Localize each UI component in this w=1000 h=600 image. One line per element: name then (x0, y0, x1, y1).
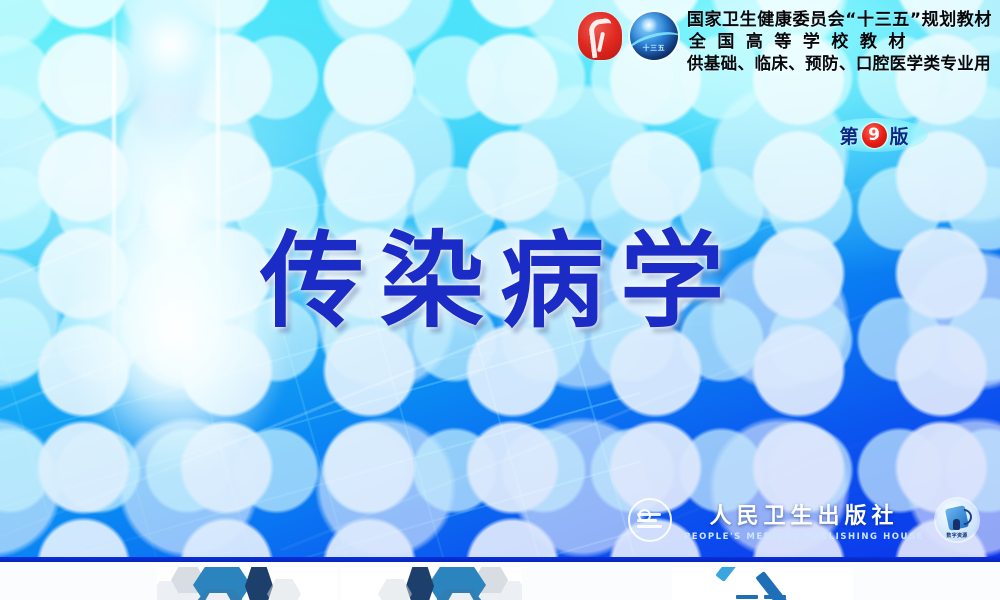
pmph-circle-logo-icon (628, 498, 672, 542)
globe-emblem-label: 十三五 (630, 43, 678, 53)
publisher-name-cn: 人民卫生出版社 (709, 498, 898, 530)
filmstrip[interactable] (0, 562, 1000, 600)
renmin-weisheng-seal-icon (578, 12, 622, 60)
publisher-names: 人民卫生出版社 PEOPLE'S MEDICAL PUBLISHING HOUS… (684, 498, 924, 542)
edition-badge: 第 9 版 (820, 118, 928, 152)
header-line-2: 全国高等学校教材 (687, 32, 992, 52)
digital-content-icon: 数字资源 (936, 499, 978, 541)
thumbnail-hex-left[interactable] (157, 567, 338, 600)
header-line-3: 供基础、临床、预防、口腔医学类专业用 (687, 54, 992, 73)
header-textlines: 国家卫生健康委员会“十三五”规划教材 全国高等学校教材 供基础、临床、预防、口腔… (687, 8, 992, 74)
book-title: 传染病学 (0, 196, 1000, 347)
thumbnail-triangle-logo[interactable] (672, 567, 853, 600)
edition-suffix: 版 (890, 122, 909, 149)
digital-badge-caption: 数字资源 (936, 532, 978, 539)
slide-canvas[interactable]: 十三五 国家卫生健康委员会“十三五”规划教材 全国高等学校教材 供基础、临床、预… (0, 0, 1000, 562)
edition-number: 9 (862, 123, 887, 148)
thumbnail-hex-right[interactable] (341, 567, 522, 600)
edition-prefix: 第 (839, 122, 858, 149)
header-block: 十三五 国家卫生健康委员会“十三五”规划教材 全国高等学校教材 供基础、临床、预… (578, 8, 992, 74)
publisher-name-en: PEOPLE'S MEDICAL PUBLISHING HOUSE (684, 532, 924, 542)
emblem-group: 十三五 (578, 8, 678, 60)
globe-emblem-icon: 十三五 (630, 12, 678, 60)
publisher-block: 人民卫生出版社 PEOPLE'S MEDICAL PUBLISHING HOUS… (628, 498, 978, 542)
header-line-1: 国家卫生健康委员会“十三五”规划教材 (687, 10, 992, 30)
